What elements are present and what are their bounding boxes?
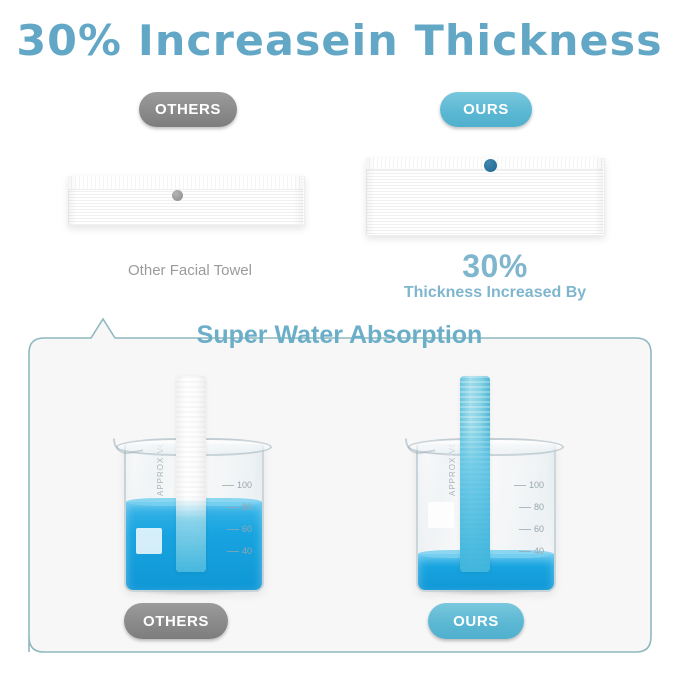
towel-stack-ours-left-edge (366, 158, 375, 234)
beaker-ours-tick-60-icon (519, 529, 531, 530)
beaker-others-grad-60-label: 60 (242, 524, 252, 534)
marker-dot-blue-icon (484, 159, 497, 172)
beaker-ours-grad-100-label: 100 (529, 480, 544, 490)
beaker-others-grad-40: 40 (227, 546, 252, 556)
beaker-ours-grad-60: 60 (519, 524, 544, 534)
beaker-others-tick-60-icon (227, 529, 239, 530)
towel-stack-ours-right-edge (594, 158, 603, 234)
towel-stack-others-right-edge (294, 176, 303, 224)
beaker-others-tick-40-icon (227, 551, 239, 552)
beaker-others-tick-100-icon (222, 485, 234, 486)
beaker-ours-grad-40: 40 (519, 546, 544, 556)
badge-others-top: OTHERS (139, 92, 237, 127)
beaker-others-grad-100: 100 (222, 480, 252, 490)
beaker-ours-tick-80-icon (519, 507, 531, 508)
beaker-others-grad-80: 80 (227, 502, 252, 512)
towel-roll-ours-wick (460, 422, 490, 572)
beaker-ours-grad-80-label: 80 (534, 502, 544, 512)
caption-other-facial-towel: Other Facial Towel (60, 262, 320, 279)
caption-thickness-percent: 30% (370, 248, 620, 285)
badge-others-bottom: OTHERS (124, 603, 228, 639)
beaker-others-grad-60: 60 (227, 524, 252, 534)
beaker-ours: APPROX.VOL 100 80 60 40 (408, 430, 560, 590)
beaker-ours-tick-40-icon (519, 551, 531, 552)
marker-dot-gray-icon (172, 190, 183, 201)
beaker-ours-sticker (428, 502, 454, 528)
beaker-others-grad-100-label: 100 (237, 480, 252, 490)
towel-roll-others (176, 376, 206, 572)
section-heading-super-water-absorption: Super Water Absorption (0, 321, 679, 350)
page-title: 30% Increasein Thickness (0, 16, 679, 65)
badge-ours-top: OURS (440, 92, 532, 127)
towel-stack-others (68, 176, 303, 224)
beaker-ours-tick-100-icon (514, 485, 526, 486)
towel-stack-others-left-edge (68, 176, 77, 224)
beaker-others-tick-80-icon (227, 507, 239, 508)
beaker-ours-grad-100: 100 (514, 480, 544, 490)
towel-roll-others-wick (176, 498, 206, 572)
beaker-ours-grad-80: 80 (519, 502, 544, 512)
beaker-others-grad-40-label: 40 (242, 546, 252, 556)
beaker-others: APPROX.VOL 100 80 60 40 (116, 430, 268, 590)
beaker-others-grad-80-label: 80 (242, 502, 252, 512)
towel-stack-others-top-face (68, 176, 303, 190)
beaker-ours-grad-60-label: 60 (534, 524, 544, 534)
beaker-ours-grad-40-label: 40 (534, 546, 544, 556)
towel-stack-ours (366, 158, 603, 234)
caption-thickness-percent-sub: Thickness Increased By (360, 284, 630, 302)
badge-ours-bottom: OURS (428, 603, 524, 639)
beaker-others-sticker (136, 528, 162, 554)
towel-roll-ours (460, 376, 490, 572)
